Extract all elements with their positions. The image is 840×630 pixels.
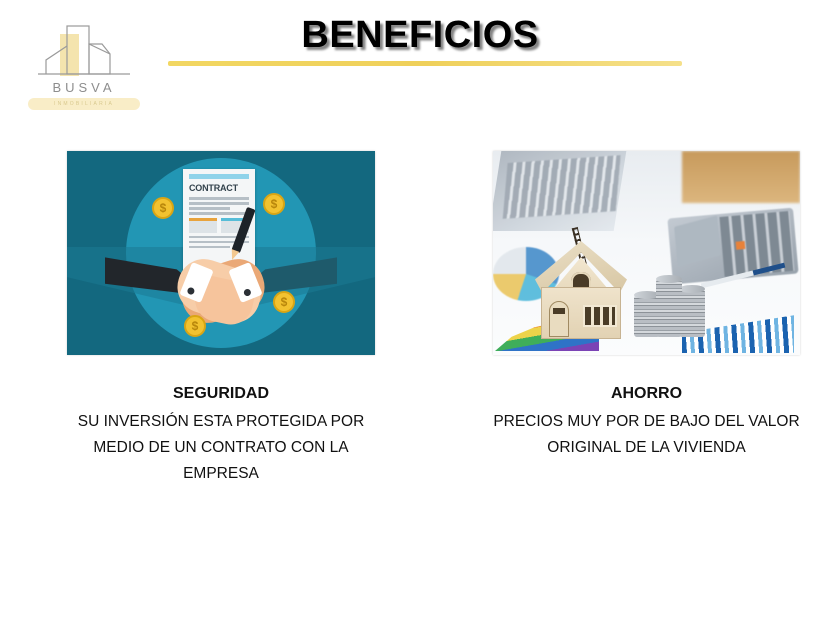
house-window: [583, 305, 617, 327]
page-title: BENEFICIOS: [0, 14, 840, 57]
coin-stack: [679, 289, 705, 337]
calculator-screen: [674, 215, 721, 266]
contract-text-line: [189, 197, 249, 200]
benefit-description: SU INVERSIÓN ESTA PROTEGIDA POR MEDIO DE…: [67, 409, 375, 487]
laptop: [493, 151, 626, 231]
dollar-coin-icon: $: [263, 193, 285, 215]
benefit-caption: SEGURIDAD SU INVERSIÓN ESTA PROTEGIDA PO…: [67, 381, 375, 487]
benefit-card-ahorro: AHORRO PRECIOS MUY POR DE BAJO DEL VALOR…: [493, 151, 800, 461]
logo-subtitle: INMOBILIARIA: [24, 98, 144, 110]
contract-header-bar: [189, 174, 249, 179]
benefit-description: PRECIOS MUY POR DE BAJO DEL VALOR ORIGIN…: [493, 409, 800, 461]
handshake-contract-illustration: CONTRACT $ $ $ $: [67, 151, 375, 355]
calculator: [667, 208, 798, 285]
house-model-savings-photo: [493, 151, 800, 355]
dollar-coin-icon: $: [184, 315, 206, 337]
benefit-title: AHORRO: [493, 381, 800, 407]
dollar-coin-icon: $: [273, 291, 295, 313]
benefit-title: SEGURIDAD: [67, 381, 375, 407]
laptop-keyboard: [503, 155, 621, 219]
coin-stack: [656, 279, 682, 337]
wooden-house-model: [535, 237, 627, 339]
title-underline-rule: [168, 61, 682, 66]
contract-text-line: [189, 207, 230, 210]
contract-text-line: [189, 212, 249, 215]
contract-field: [189, 218, 217, 233]
contract-text-line: [189, 202, 249, 205]
contract-title: CONTRACT: [189, 183, 249, 193]
logo-wordmark: BUSVA: [24, 80, 144, 95]
dollar-coin-icon: $: [152, 197, 174, 219]
house-door: [549, 301, 569, 337]
benefit-card-seguridad: CONTRACT $ $ $ $ SEGURIDAD SU INVERSIÓN: [67, 151, 375, 487]
wooden-board: [682, 151, 800, 203]
benefit-caption: AHORRO PRECIOS MUY POR DE BAJO DEL VALOR…: [493, 381, 800, 461]
contract-text-line: [189, 246, 230, 249]
